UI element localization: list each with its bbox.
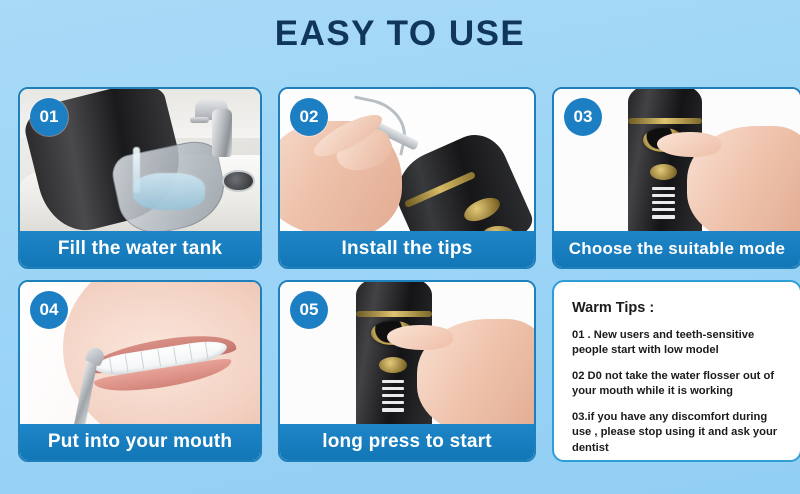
- step-card-02[interactable]: 02 Install the tips: [278, 87, 536, 269]
- steps-grid: 01 Fill the water tank 02: [18, 87, 786, 479]
- step-caption-04: Put into your mouth: [20, 424, 260, 460]
- step-card-04[interactable]: 04 Put into your mouth: [18, 280, 262, 462]
- step-card-03[interactable]: 03 Choose the suitable mode: [552, 87, 800, 269]
- step-badge-02: 02: [290, 98, 328, 136]
- step-caption-03: Choose the suitable mode: [554, 231, 800, 267]
- warm-tip-line-2: 02 D0 not take the water flosser out of …: [572, 369, 784, 400]
- step-caption-01: Fill the water tank: [20, 231, 260, 267]
- step-card-05[interactable]: 05 long press to start: [278, 280, 536, 462]
- step-caption-05: long press to start: [280, 424, 534, 460]
- step-badge-04: 04: [30, 291, 68, 329]
- step-badge-05: 05: [290, 291, 328, 329]
- infographic-page: EASY TO USE: [0, 0, 800, 494]
- warm-tip-line-1: 01 . New users and teeth-sensitive peopl…: [572, 328, 784, 359]
- warm-tips-panel: Warm Tips : 01 . New users and teeth-sen…: [552, 280, 800, 462]
- warm-tip-line-3: 03.if you have any discomfort during use…: [572, 410, 784, 456]
- step-badge-01: 01: [30, 98, 68, 136]
- page-title: EASY TO USE: [0, 14, 800, 54]
- warm-tips-title: Warm Tips :: [572, 300, 784, 316]
- step-card-01[interactable]: 01 Fill the water tank: [18, 87, 262, 269]
- step-caption-02: Install the tips: [280, 231, 534, 267]
- step-badge-03: 03: [564, 98, 602, 136]
